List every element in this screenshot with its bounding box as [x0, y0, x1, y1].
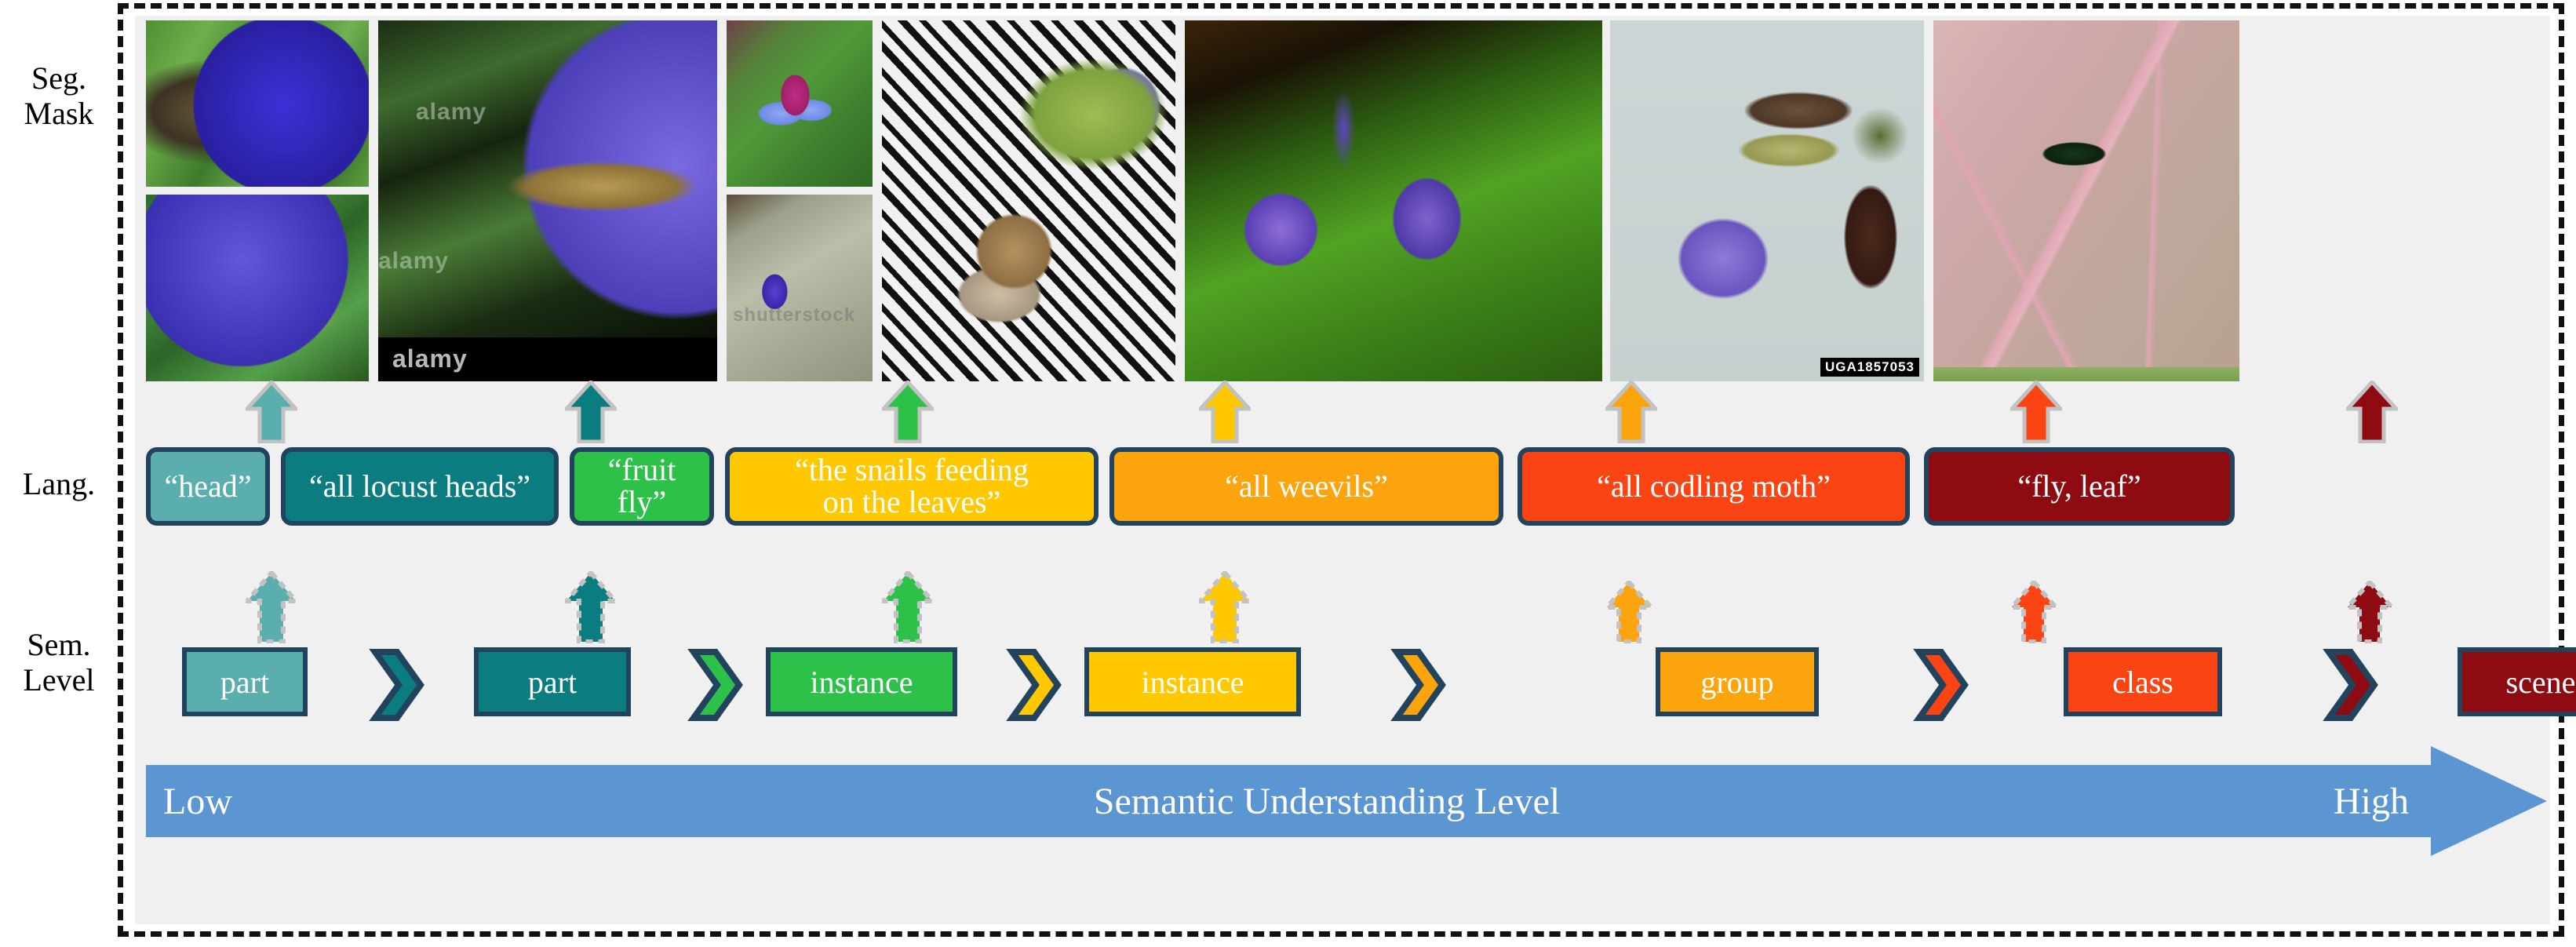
lang-box-snails-feeding[interactable]: “the snails feeding on the leaves” [725, 447, 1099, 526]
bar-title: Semantic Understanding Level [146, 765, 2508, 837]
photo-grasshopper-blue-head-mask [146, 20, 369, 187]
sem-box-group[interactable]: group [1656, 647, 1819, 716]
up-arrow-image-to-lang-1 [246, 381, 297, 443]
photo-codling-moth-larvae-and-adult: UGA1857053 [1610, 20, 1924, 381]
up-arrow-lang-to-sem-3 [882, 571, 934, 643]
image-column-2: alamy alamy alamy [378, 20, 717, 381]
sem-box-part-1[interactable]: part [182, 647, 308, 716]
language-row: “head” “all locust heads” “fruit fly” “t… [146, 447, 2550, 526]
lang-box-fruit-fly-line1: “fruit [608, 454, 676, 486]
sem-box-scene[interactable]: scene [2458, 647, 2576, 716]
chevron-icon-5 [1913, 649, 1969, 725]
chevron-icon-4 [1390, 649, 1447, 725]
sem-box-instance-1[interactable]: instance [766, 647, 957, 716]
up-arrow-image-to-lang-3 [882, 381, 934, 443]
up-arrow-lang-to-sem-5 [1605, 581, 1652, 643]
photo-grasshopper-blue-head-mask-2 [146, 195, 369, 381]
chevron-icon-3 [1006, 649, 1062, 725]
photo-beetle-on-pink-leaf [1933, 20, 2239, 381]
image-column-7 [1933, 20, 2239, 381]
up-arrow-lang-to-sem-7 [2346, 581, 2393, 643]
image-column-4 [882, 20, 1175, 381]
chevron-icon-2 [687, 649, 744, 725]
lang-box-fruit-fly-line2: fly” [618, 486, 666, 519]
up-arrow-image-to-lang-2 [565, 381, 617, 443]
bar-label-high: High [2334, 765, 2409, 837]
image-column-5 [1185, 20, 1602, 381]
row-label-seg-mask: Seg. Mask [0, 61, 118, 132]
row-label-lang: Lang. [0, 467, 118, 502]
up-arrow-lang-to-sem-1 [246, 571, 297, 643]
sem-box-part-2[interactable]: part [474, 647, 631, 716]
lang-box-all-codling-moth[interactable]: “all codling moth” [1518, 447, 1910, 526]
up-arrow-lang-to-sem-6 [2010, 581, 2057, 643]
sem-box-instance-2[interactable]: instance [1084, 647, 1301, 716]
chevron-icon-6 [2323, 649, 2379, 725]
lang-box-snails-line1: “the snails feeding [795, 454, 1029, 486]
lang-box-snails-line2: on the leaves” [823, 486, 1001, 519]
row-label-seg-line1: Seg. [0, 61, 118, 97]
semantic-understanding-figure: Seg. Mask Lang. Sem. Level alamy [0, 0, 2576, 947]
segmentation-mask-row: alamy alamy alamy shutterstock [146, 20, 2550, 381]
row-label-seg-line2: Mask [0, 97, 118, 132]
row-label-sem-level: Sem. Level [0, 628, 118, 698]
up-arrow-lang-to-sem-4 [1199, 571, 1251, 643]
semantic-level-row: part part instance instance group class … [146, 647, 2550, 726]
lang-box-fruit-fly[interactable]: “fruit fly” [570, 447, 714, 526]
photo-locust-on-leaf-alamy: alamy alamy alamy [378, 20, 717, 381]
up-arrow-image-to-lang-5 [1605, 381, 1657, 443]
lang-box-all-weevils[interactable]: “all weevils” [1109, 447, 1503, 526]
chevron-icon-1 [369, 649, 425, 725]
semantic-understanding-level-bar: Low Semantic Understanding Level High [146, 765, 2550, 837]
image-column-3: shutterstock [727, 20, 873, 381]
up-arrow-image-to-lang-4 [1199, 381, 1251, 443]
up-arrow-image-to-lang-7 [2346, 381, 2398, 443]
photo-snail-on-lettuce-mask [882, 20, 1175, 381]
row-label-sem-line1: Sem. [0, 628, 118, 663]
photo-two-weevils-on-leaf [1185, 20, 1602, 381]
up-arrow-lang-to-sem-2 [565, 571, 617, 643]
sem-box-class[interactable]: class [2064, 647, 2222, 716]
lang-box-fly-leaf[interactable]: “fly, leaf” [1924, 447, 2235, 526]
image-column-6: UGA1857053 [1610, 20, 1924, 381]
photo-fly-on-grey-leaf-shutterstock: shutterstock [727, 195, 873, 381]
photo-fruit-fly-on-leaf [727, 20, 873, 187]
lang-box-all-locust-heads[interactable]: “all locust heads” [281, 447, 559, 526]
lang-box-head[interactable]: “head” [146, 447, 270, 526]
up-arrow-image-to-lang-6 [2010, 381, 2062, 443]
image-column-1 [146, 20, 369, 381]
row-label-sem-line2: Level [0, 663, 118, 698]
